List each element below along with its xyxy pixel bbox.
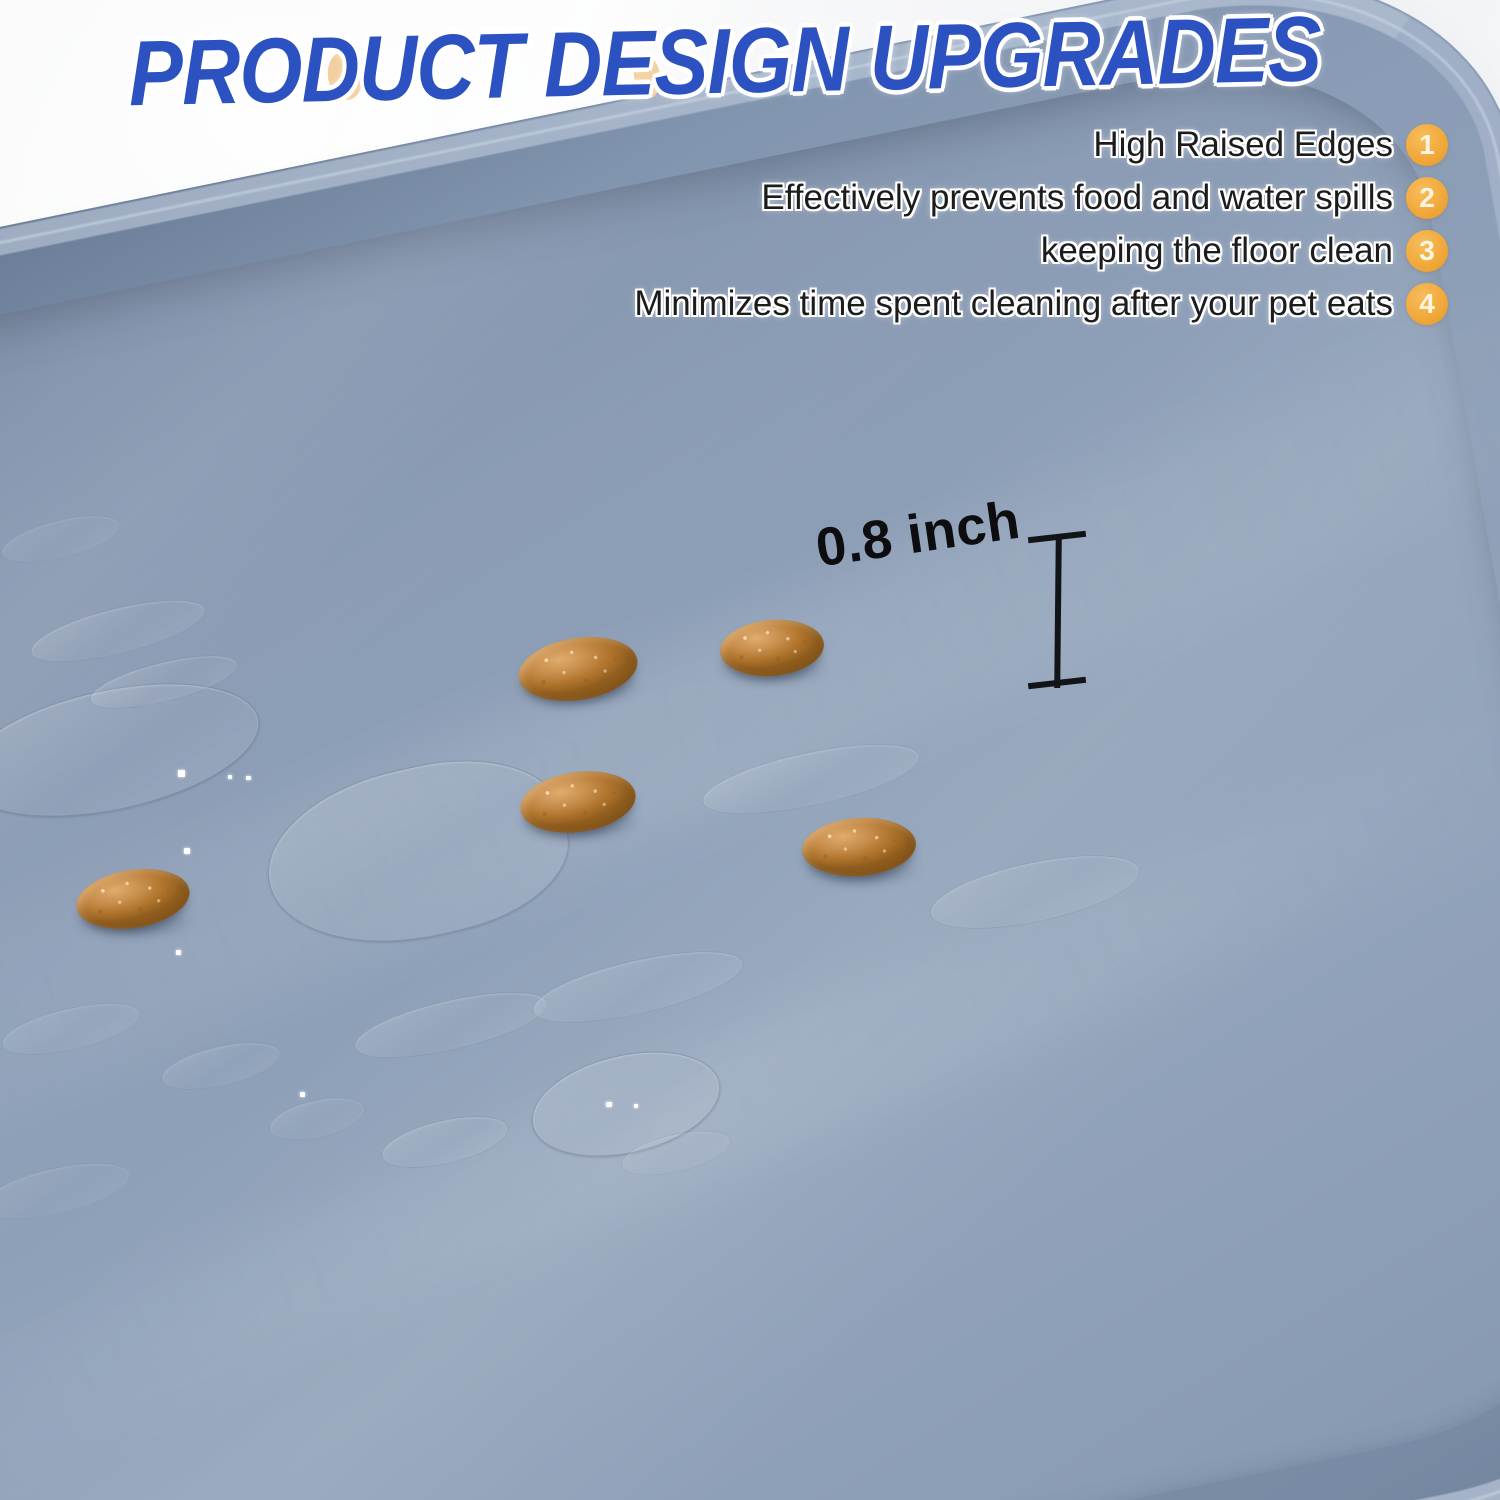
- water-specular-highlight: [634, 1104, 638, 1108]
- water-specular-highlight: [228, 775, 232, 779]
- product-marketing-image: PRODUCT DESIGN UPGRADES High Raised Edge…: [0, 0, 1500, 1500]
- feature-item: keeping the floor clean 3: [1041, 230, 1448, 272]
- water-specular-highlight: [300, 1092, 305, 1097]
- feature-label: Minimizes time spent cleaning after your…: [634, 284, 1393, 324]
- water-specular-highlight: [246, 776, 251, 780]
- water-specular-highlight: [606, 1102, 612, 1107]
- feature-number-badge: 4: [1406, 283, 1448, 325]
- dimension-stem: [1054, 536, 1062, 688]
- feature-label: keeping the floor clean: [1041, 231, 1393, 271]
- feature-item: High Raised Edges 1: [1093, 124, 1448, 166]
- feature-number-badge: 3: [1406, 230, 1448, 272]
- feature-item: Effectively prevents food and water spil…: [761, 177, 1448, 219]
- feature-number-badge: 1: [1406, 124, 1448, 166]
- water-specular-highlight: [178, 770, 185, 777]
- feature-label: Effectively prevents food and water spil…: [761, 178, 1393, 218]
- water-specular-highlight: [176, 950, 181, 955]
- feature-list: High Raised Edges 1 Effectively prevents…: [508, 124, 1448, 325]
- feature-label: High Raised Edges: [1093, 125, 1393, 165]
- dimension-arrow-icon: [1028, 528, 1088, 696]
- feature-item: Minimizes time spent cleaning after your…: [634, 283, 1448, 325]
- water-specular-highlight: [184, 848, 190, 854]
- feature-number-badge: 2: [1406, 177, 1448, 219]
